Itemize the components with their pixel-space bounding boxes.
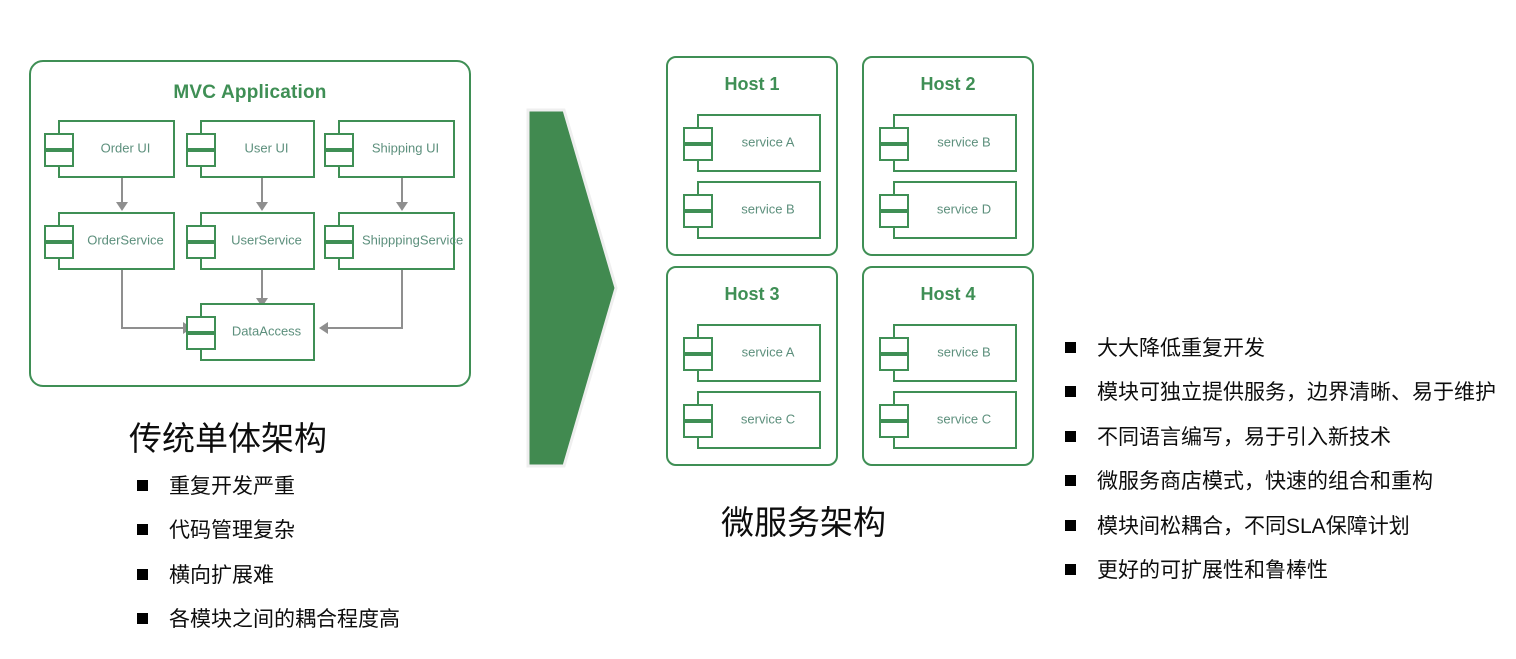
- host-title: Host 2: [864, 74, 1032, 95]
- bullet-square-icon: [1065, 431, 1076, 442]
- component-label: ShipppingService: [362, 234, 449, 249]
- component-label: service A: [721, 136, 815, 151]
- component-tab-upper: [44, 133, 74, 150]
- component-tab-lower: [324, 242, 354, 259]
- arrowhead-user: [256, 202, 268, 211]
- bullet-square-icon: [1065, 475, 1076, 486]
- host-title: Host 3: [668, 284, 836, 305]
- component-tab-upper: [186, 316, 216, 333]
- component-tab-upper: [44, 225, 74, 242]
- component-tab-upper: [879, 404, 909, 421]
- component-order-service[interactable]: OrderService: [44, 212, 175, 270]
- diagram-canvas: MVC Application Order UI User UI Shippin…: [0, 0, 1516, 659]
- bullet-square-icon: [137, 480, 148, 491]
- component-tab-lower: [683, 354, 713, 371]
- list-item: 模块间松耦合，不同SLA保障计划: [1065, 512, 1505, 542]
- component-order-ui[interactable]: Order UI: [44, 120, 175, 178]
- component-tab-upper: [879, 127, 909, 144]
- arrowhead-shippingservice: [319, 322, 328, 334]
- component-tab-lower: [683, 211, 713, 228]
- list-item: 微服务商店模式，快速的组合和重构: [1065, 467, 1505, 497]
- bullet-square-icon: [1065, 386, 1076, 397]
- component-tab-upper: [186, 225, 216, 242]
- component-tab-lower: [186, 333, 216, 350]
- component-label: DataAccess: [224, 325, 309, 340]
- bullet-square-icon: [1065, 564, 1076, 575]
- service-component-host2-1[interactable]: service B: [879, 114, 1017, 172]
- monolith-bullet-list: 重复开发严重 代码管理复杂 横向扩展难 各模块之间的耦合程度高: [137, 472, 400, 650]
- list-item: 重复开发严重: [137, 472, 400, 502]
- service-component-host4-2[interactable]: service C: [879, 391, 1017, 449]
- microservices-bullet-list: 大大降低重复开发 模块可独立提供服务，边界清晰、易于维护 不同语言编写，易于引入…: [1065, 334, 1505, 601]
- connector-userservice-to-dataaccess: [261, 270, 263, 300]
- component-tab-upper: [879, 337, 909, 354]
- host-title: Host 1: [668, 74, 836, 95]
- component-tab-upper: [683, 127, 713, 144]
- component-tab-upper: [683, 404, 713, 421]
- component-tab-upper: [324, 133, 354, 150]
- transition-chevron-right-arrow: [520, 104, 624, 472]
- list-item: 模块可独立提供服务，边界清晰、易于维护: [1065, 378, 1505, 408]
- component-tab-lower: [879, 421, 909, 438]
- mvc-application-title: MVC Application: [31, 82, 469, 104]
- component-label: service D: [917, 203, 1011, 218]
- component-label: service B: [917, 136, 1011, 151]
- component-tab-lower: [879, 144, 909, 161]
- connector-orderservice-vertical: [121, 270, 123, 328]
- component-user-service[interactable]: UserService: [186, 212, 315, 270]
- component-tab-lower: [683, 421, 713, 438]
- component-tab-lower: [683, 144, 713, 161]
- service-component-host2-2[interactable]: service D: [879, 181, 1017, 239]
- list-item: 横向扩展难: [137, 561, 400, 591]
- component-tab-upper: [324, 225, 354, 242]
- component-shipping-service[interactable]: ShipppingService: [324, 212, 455, 270]
- component-shipping-ui[interactable]: Shipping UI: [324, 120, 455, 178]
- component-tab-upper: [683, 337, 713, 354]
- connector-shipping-ui-to-service: [401, 178, 403, 204]
- monolith-heading: 传统单体架构: [129, 412, 327, 460]
- component-label: service C: [917, 413, 1011, 428]
- service-component-host3-2[interactable]: service C: [683, 391, 821, 449]
- component-label: UserService: [224, 234, 309, 249]
- host-title: Host 4: [864, 284, 1032, 305]
- component-label: User UI: [224, 142, 309, 157]
- bullet-square-icon: [137, 569, 148, 580]
- service-component-host3-1[interactable]: service A: [683, 324, 821, 382]
- component-tab-lower: [879, 211, 909, 228]
- arrowhead-shipping: [396, 202, 408, 211]
- component-label: service A: [721, 346, 815, 361]
- connector-user-ui-to-service: [261, 178, 263, 204]
- bullet-square-icon: [1065, 342, 1076, 353]
- component-tab-upper: [879, 194, 909, 211]
- bullet-square-icon: [137, 613, 148, 624]
- component-data-access[interactable]: DataAccess: [186, 303, 315, 361]
- component-user-ui[interactable]: User UI: [186, 120, 315, 178]
- component-tab-lower: [324, 150, 354, 167]
- connector-orderservice-horizontal: [121, 327, 185, 329]
- service-component-host1-2[interactable]: service B: [683, 181, 821, 239]
- list-item: 代码管理复杂: [137, 516, 400, 546]
- list-item: 不同语言编写，易于引入新技术: [1065, 423, 1505, 453]
- bullet-square-icon: [1065, 520, 1076, 531]
- component-label: service C: [721, 413, 815, 428]
- arrowhead-order: [116, 202, 128, 211]
- component-tab-lower: [186, 242, 216, 259]
- component-label: Order UI: [82, 142, 169, 157]
- service-component-host4-1[interactable]: service B: [879, 324, 1017, 382]
- bullet-square-icon: [137, 524, 148, 535]
- connector-shippingservice-horizontal: [328, 327, 403, 329]
- connector-shippingservice-vertical: [401, 270, 403, 328]
- list-item: 各模块之间的耦合程度高: [137, 605, 400, 635]
- connector-order-ui-to-service: [121, 178, 123, 204]
- component-label: service B: [721, 203, 815, 218]
- service-component-host1-1[interactable]: service A: [683, 114, 821, 172]
- microservices-heading: 微服务架构: [721, 496, 886, 544]
- component-tab-lower: [44, 150, 74, 167]
- component-tab-lower: [44, 242, 74, 259]
- component-tab-upper: [186, 133, 216, 150]
- component-tab-upper: [683, 194, 713, 211]
- list-item: 大大降低重复开发: [1065, 334, 1505, 364]
- component-tab-lower: [879, 354, 909, 371]
- component-label: OrderService: [82, 234, 169, 249]
- component-label: Shipping UI: [362, 142, 449, 157]
- list-item: 更好的可扩展性和鲁棒性: [1065, 556, 1505, 586]
- component-tab-lower: [186, 150, 216, 167]
- component-label: service B: [917, 346, 1011, 361]
